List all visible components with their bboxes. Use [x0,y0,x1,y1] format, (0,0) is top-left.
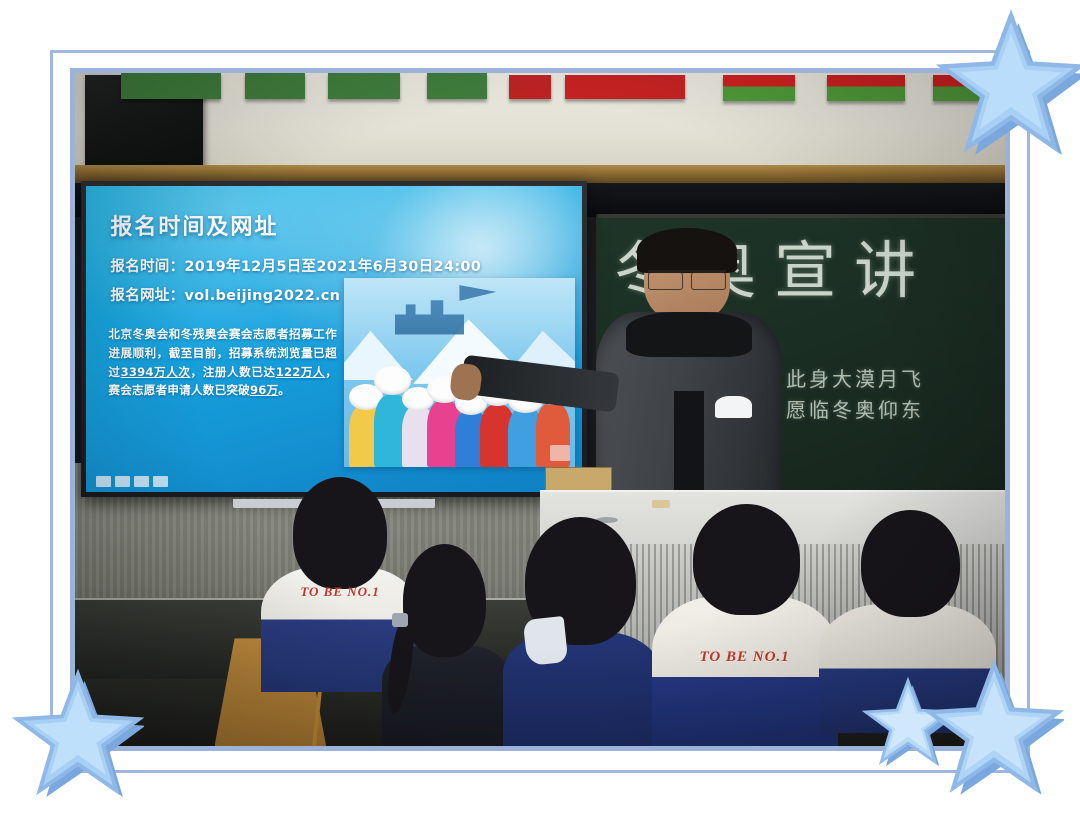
photo-great-wall [395,293,464,335]
slide-control-bar[interactable] [96,476,168,487]
chalkboard-couplet-line-2: 愿临冬奥仰东 [786,396,924,427]
wall-panel-red-green [723,75,795,101]
wall-panel-green [427,73,487,99]
jacket-brand-logo [715,396,752,418]
hair-tie [392,613,408,627]
wall-panel-green [328,73,400,99]
uniform-text: TO BE NO.1 [652,649,838,666]
wall-panel-red-green [827,75,905,101]
wall-panel-green [121,73,221,99]
slide-control-button[interactable] [115,476,130,487]
student-head [693,504,801,615]
classroom-photo: 冬奥宣讲 此身大漠月飞 愿临冬奥仰东 报名时间及网址 报名时间：2019年12月… [75,73,1005,746]
wall-panel-red [565,75,685,99]
body-stat-views: 3394万人次 [121,365,191,379]
student-seated [382,544,512,746]
slide-body-text: 北京冬奥会和冬残奥会赛会志愿者招募工作进展顺利，截至目前，招募系统浏览量已超过3… [108,325,337,400]
teacher-collar [626,312,752,357]
student-seated: TO BE NO.1 [652,504,838,746]
wall-panel-red [509,75,551,99]
teacher-glasses [648,270,726,288]
slide-registration-url: 报名网址：vol.beijing2022.cn [110,284,340,305]
classroom-back-wall [75,73,1005,167]
teacher-hair [637,228,737,273]
student-head [403,544,486,657]
student-seated [819,510,996,732]
projector-screen: 报名时间及网址 报名时间：2019年12月5日至2021年6月30日24:00 … [81,181,588,497]
chalkboard-couplet-line-1: 此身大漠月飞 [786,365,924,396]
student-uniform [652,596,838,746]
slide-control-button[interactable] [134,476,149,487]
slide-title: 报名时间及网址 [110,209,278,241]
photo-frame: 冬奥宣讲 此身大漠月飞 愿临冬奥仰东 报名时间及网址 报名时间：2019年12月… [70,68,1010,751]
registration-url-value: vol.beijing2022.cn [184,288,340,304]
body-part-2: ，注册人数已达 [191,365,276,379]
student-seated [503,517,661,746]
teacher-hand [449,362,483,401]
student-uniform [819,604,996,733]
student-head [293,477,388,589]
slide-corner-logo [550,445,570,461]
wall-panel-red-green [933,75,995,101]
body-stat-registered: 122万人 [276,365,326,379]
registration-time-label: 报名时间： [110,259,184,275]
body-stat-applicants: 96万 [250,383,278,397]
chalkboard-frame [598,214,1005,218]
photo-flag [459,285,496,315]
slide-control-button[interactable] [96,476,111,487]
registration-time-value: 2019年12月5日至2021年6月30日24:00 [184,259,481,275]
chalkboard-couplet: 此身大漠月飞 愿临冬奥仰东 [786,365,924,427]
presentation-slide: 报名时间及网址 报名时间：2019年12月5日至2021年6月30日24:00 … [86,186,583,492]
slide-registration-time: 报名时间：2019年12月5日至2021年6月30日24:00 [110,255,481,276]
registration-url-label: 报名网址： [110,288,184,304]
screenshot-page: 冬奥宣讲 此身大漠月飞 愿临冬奥仰东 报名时间及网址 报名时间：2019年12月… [0,0,1080,823]
body-part-4: 。 [278,383,290,397]
slide-control-button[interactable] [153,476,168,487]
face-mask [523,616,569,666]
wall-panel-green [245,73,305,99]
student-head [861,510,960,617]
